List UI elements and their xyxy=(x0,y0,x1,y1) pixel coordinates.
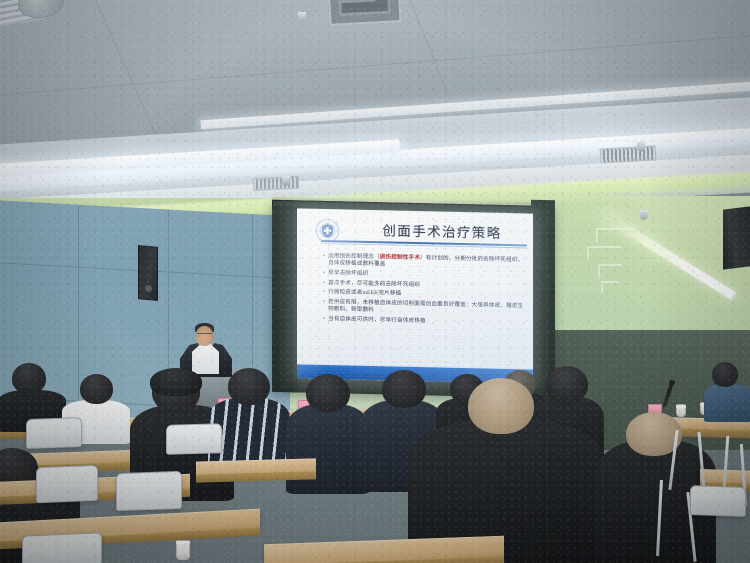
wall-mounted-speaker xyxy=(723,206,750,269)
slide-title: 创面手术治疗策略 xyxy=(357,219,527,243)
presenter-shirt xyxy=(192,344,219,374)
projection-screen: 创面手术治疗策略 • 运用损伤控制理念（损伤控制性手术）有计划的、分期分批的去除… xyxy=(297,208,533,383)
bullet-dot-icon: • xyxy=(323,253,325,267)
slide-bullet-text: 运用损伤控制理念（损伤控制性手术）有计划的、分期分批的去除坏死组织，自体皮移植或… xyxy=(328,253,527,272)
bullet-dot-icon: • xyxy=(323,280,325,287)
chalkboard-right-panel xyxy=(531,200,555,376)
desk-row-front-center xyxy=(196,458,316,475)
sprinkler-head-icon xyxy=(640,210,648,220)
chair[interactable] xyxy=(36,465,98,503)
circular-ceiling-speaker-icon xyxy=(258,0,296,2)
wall-mounted-speaker xyxy=(138,245,158,301)
paper-cup xyxy=(176,540,190,560)
slide-bullet-text: 若供皮有限，未移植自体皮的切削面需创血要良好覆盖：大张异体皮、猪皮生物敷料、新型… xyxy=(328,299,527,318)
glasses-icon xyxy=(197,333,212,337)
chair[interactable] xyxy=(22,532,102,563)
slide-bullet-text: 当有自体皮可供时，尽早行自体皮移植 xyxy=(328,316,527,327)
slide-bullet-item: • 运用损伤控制理念（损伤控制性手术）有计划的、分期分批的去除坏死组织，自体皮移… xyxy=(323,253,527,272)
wall-step-decor xyxy=(601,281,619,293)
sprinkler-head-icon xyxy=(298,12,306,22)
chair[interactable] xyxy=(690,485,746,517)
wall-step-decor xyxy=(587,246,621,260)
chair[interactable] xyxy=(166,423,222,455)
sprinkler-head-icon xyxy=(637,142,645,152)
square-hvac-diffuser-icon xyxy=(326,0,401,26)
slide-bullet-item: • 若供皮有限，未移植自体皮的切削面需创血要良好覆盖：大张异体皮、猪皮生物敷料、… xyxy=(323,299,527,318)
chair[interactable] xyxy=(26,417,82,449)
sprinkler-head-icon xyxy=(282,176,290,186)
wall-step-decor xyxy=(598,264,622,278)
slide-bullet-list: • 运用损伤控制理念（损伤控制性手术）有计划的、分期分批的去除坏死组织，自体皮移… xyxy=(323,253,527,330)
bullet-dot-icon: • xyxy=(323,299,325,313)
paper-cup xyxy=(676,404,686,417)
black-cap xyxy=(150,368,202,396)
slide-bullet-item: • 当有自体皮可供时，尽早行自体皮移植 xyxy=(323,316,527,328)
chair[interactable] xyxy=(116,471,182,511)
bullet-dot-icon: • xyxy=(323,289,325,296)
bullet-dot-icon: • xyxy=(323,270,325,277)
louvered-vent-icon xyxy=(600,146,657,164)
desk-row-nearest-center xyxy=(264,536,504,563)
chalkboard-left-panel xyxy=(272,206,298,393)
photo-conference-room-presentation: 创面手术治疗策略 • 运用损伤控制理念（损伤控制性手术）有计划的、分期分批的去除… xyxy=(0,0,750,563)
bullet-dot-icon: • xyxy=(323,316,325,323)
louvered-vent-icon xyxy=(253,176,300,191)
